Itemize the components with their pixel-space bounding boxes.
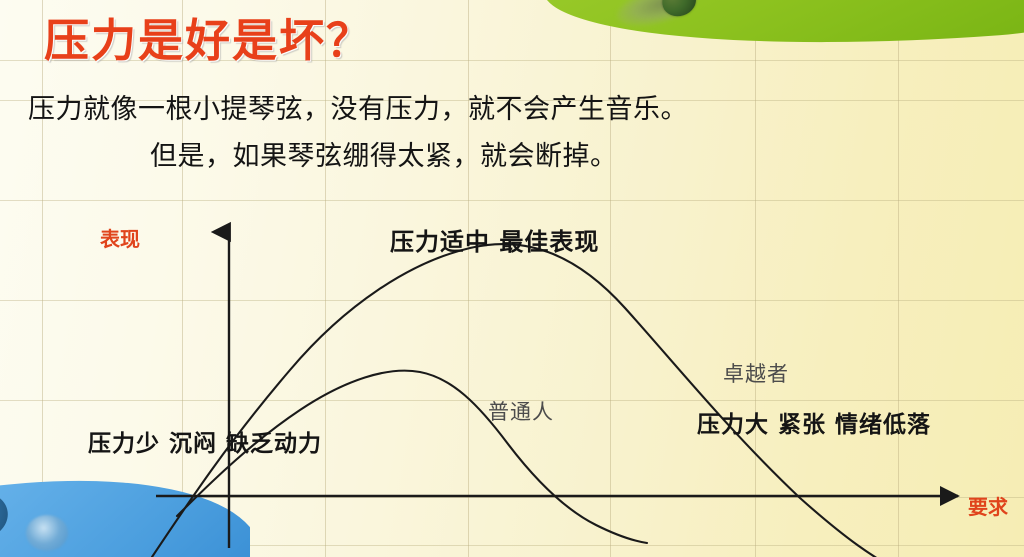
annotation-peak-zone: 压力适中 最佳表现 bbox=[390, 222, 599, 257]
chart-svg bbox=[0, 0, 1024, 557]
y-axis-label: 表现 bbox=[100, 223, 140, 252]
slide-canvas: 压力是好是坏？ 压力就像一根小提琴弦，没有压力，就不会产生音乐。 但是，如果琴弦… bbox=[0, 0, 1024, 557]
stress-performance-chart: 表现 要求 压力适中 最佳表现 压力少 沉闷 缺乏动力 压力大 紧张 情绪低落 … bbox=[0, 0, 1024, 557]
x-axis-label: 要求 bbox=[968, 491, 1008, 520]
annotation-high-stress: 压力大 紧张 情绪低落 bbox=[697, 405, 931, 439]
series-label-excellent: 卓越者 bbox=[723, 358, 789, 388]
series-label-average: 普通人 bbox=[488, 396, 554, 426]
annotation-low-stress: 压力少 沉闷 缺乏动力 bbox=[88, 424, 322, 458]
